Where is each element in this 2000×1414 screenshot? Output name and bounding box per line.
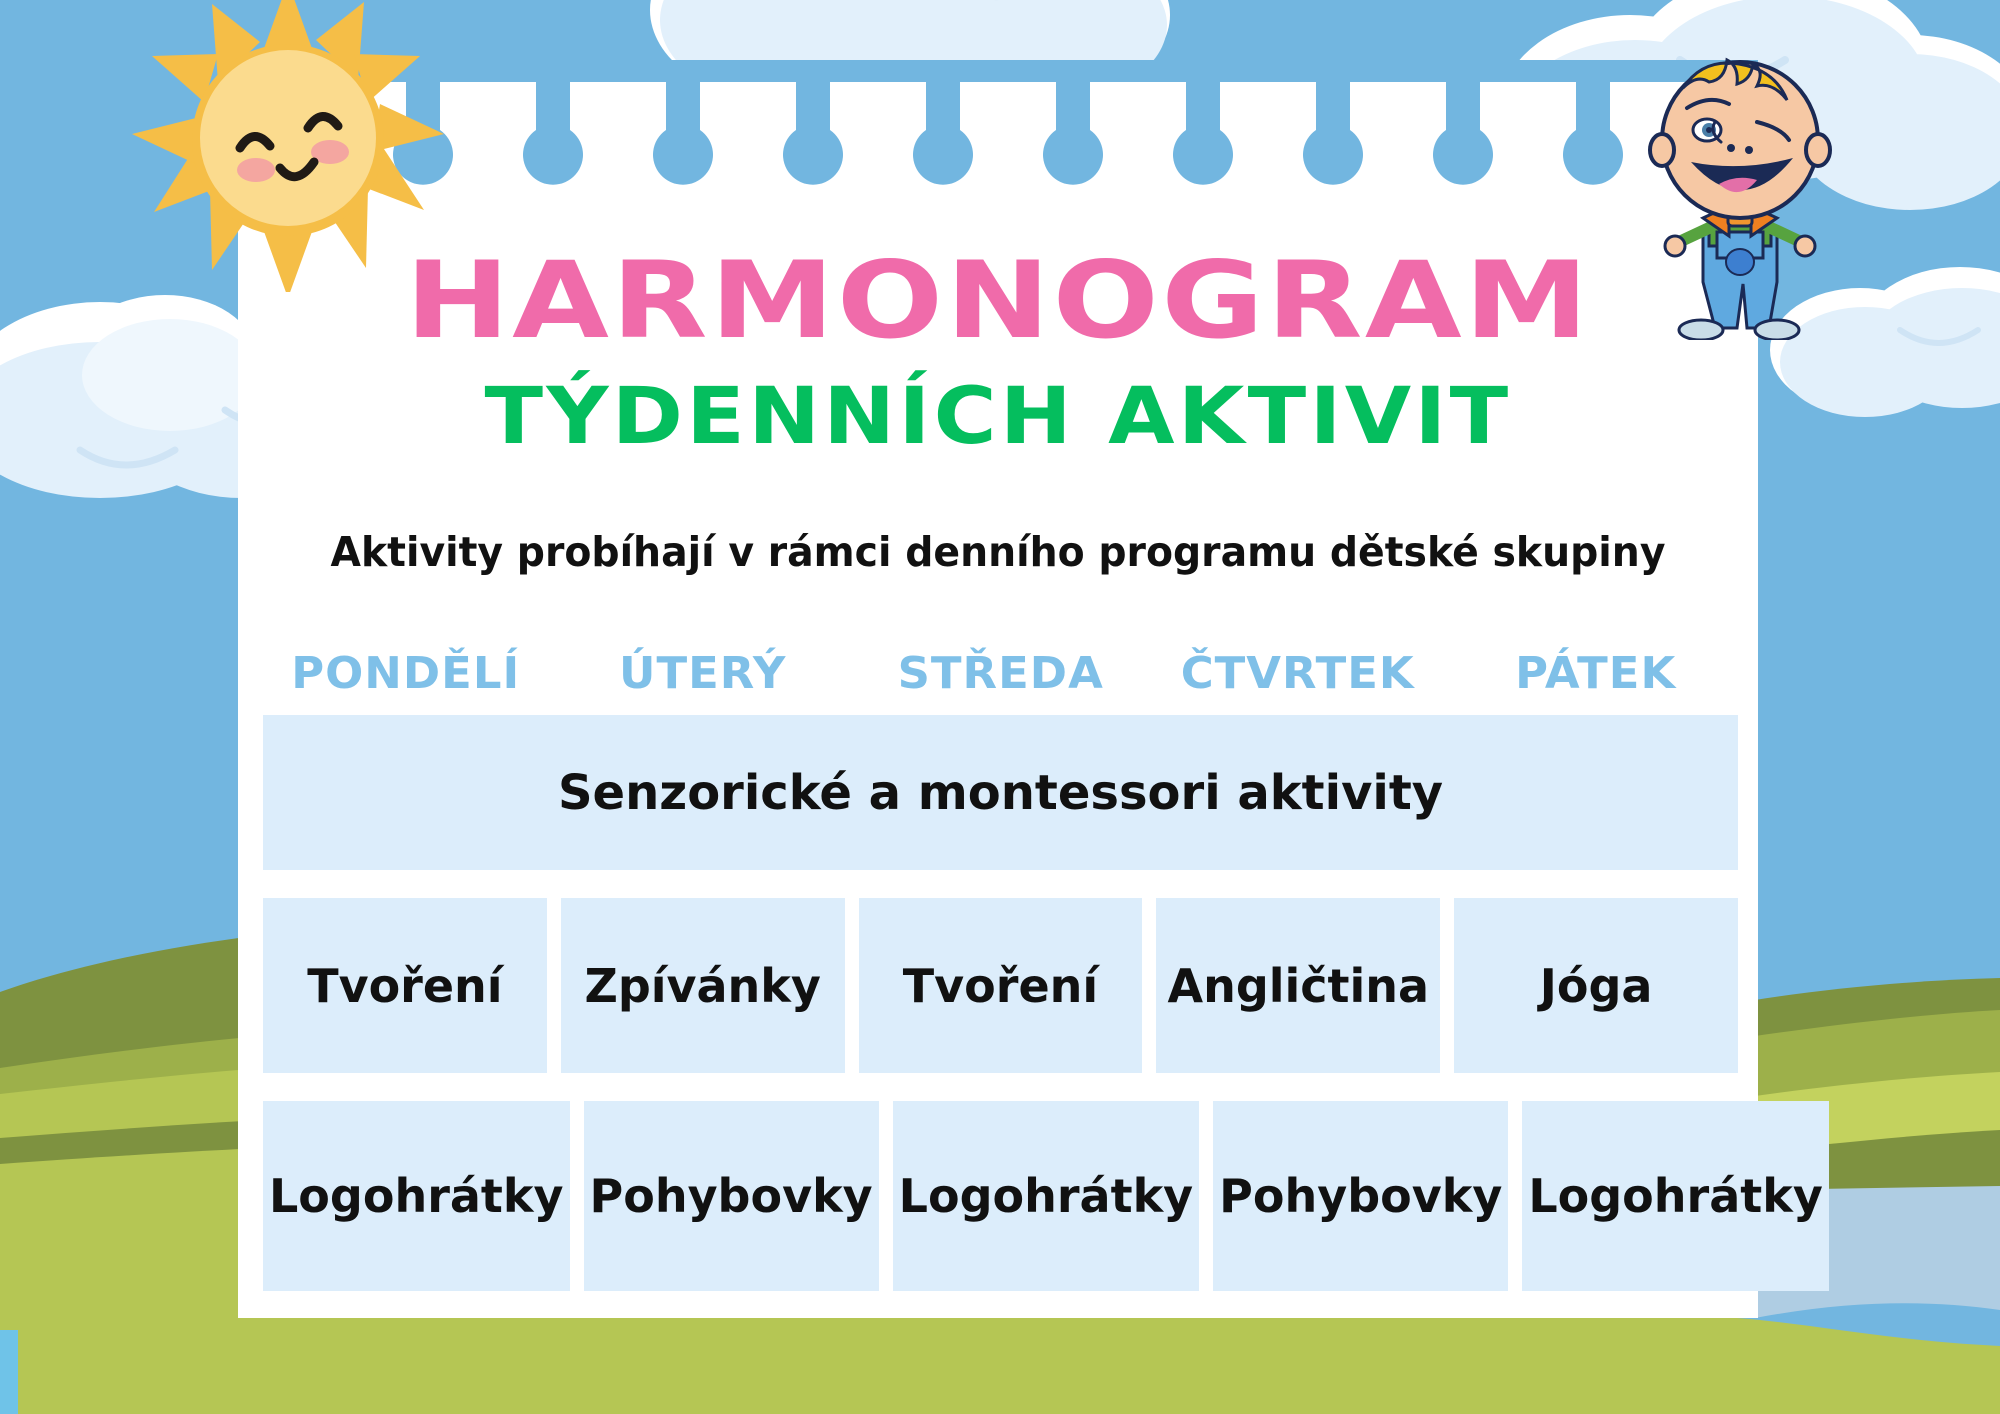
page-tagline: Aktivity probíhají v rámci denního progr… bbox=[268, 528, 1727, 576]
day-header-tuesday: ÚTERÝ bbox=[558, 648, 849, 699]
page-title: HARMONOGRAM bbox=[101, 248, 1895, 354]
page-subtitle: TÝDENNÍCH AKTIVIT bbox=[162, 378, 1834, 456]
activity-cell: Zpívánky bbox=[561, 898, 845, 1073]
activity-cell: Pohybovky bbox=[584, 1101, 879, 1291]
activity-cell: Angličtina bbox=[1156, 898, 1440, 1073]
activity-row-1: Tvoření Zpívánky Tvoření Angličtina Jóga bbox=[263, 898, 1738, 1073]
day-header-monday: PONDĚLÍ bbox=[260, 648, 551, 699]
activity-row-2: Logohrátky Pohybovky Logohrátky Pohybovk… bbox=[263, 1101, 1738, 1291]
day-header-thursday: ČTVRTEK bbox=[1152, 648, 1443, 699]
activity-cell: Tvoření bbox=[263, 898, 547, 1073]
activity-cell: Logohrátky bbox=[263, 1101, 570, 1291]
day-header-wednesday: STŘEDA bbox=[855, 648, 1146, 699]
schedule-grid: PONDĚLÍ ÚTERÝ STŘEDA ČTVRTEK PÁTEK Senzo… bbox=[263, 648, 1738, 1291]
activity-cell: Jóga bbox=[1454, 898, 1738, 1073]
poster-stage: HARMONOGRAM TÝDENNÍCH AKTIVIT Aktivity p… bbox=[0, 0, 2000, 1414]
day-header-row: PONDĚLÍ ÚTERÝ STŘEDA ČTVRTEK PÁTEK bbox=[263, 648, 1738, 699]
card-content: HARMONOGRAM TÝDENNÍCH AKTIVIT Aktivity p… bbox=[238, 68, 1758, 1318]
full-width-activity-label: Senzorické a montessori aktivity bbox=[558, 765, 1443, 821]
activity-cell: Logohrátky bbox=[1522, 1101, 1829, 1291]
activity-cell: Pohybovky bbox=[1213, 1101, 1508, 1291]
activity-cell: Tvoření bbox=[859, 898, 1143, 1073]
day-header-friday: PÁTEK bbox=[1450, 648, 1741, 699]
full-width-activity-row: Senzorické a montessori aktivity bbox=[263, 715, 1738, 870]
activity-cell: Logohrátky bbox=[893, 1101, 1200, 1291]
